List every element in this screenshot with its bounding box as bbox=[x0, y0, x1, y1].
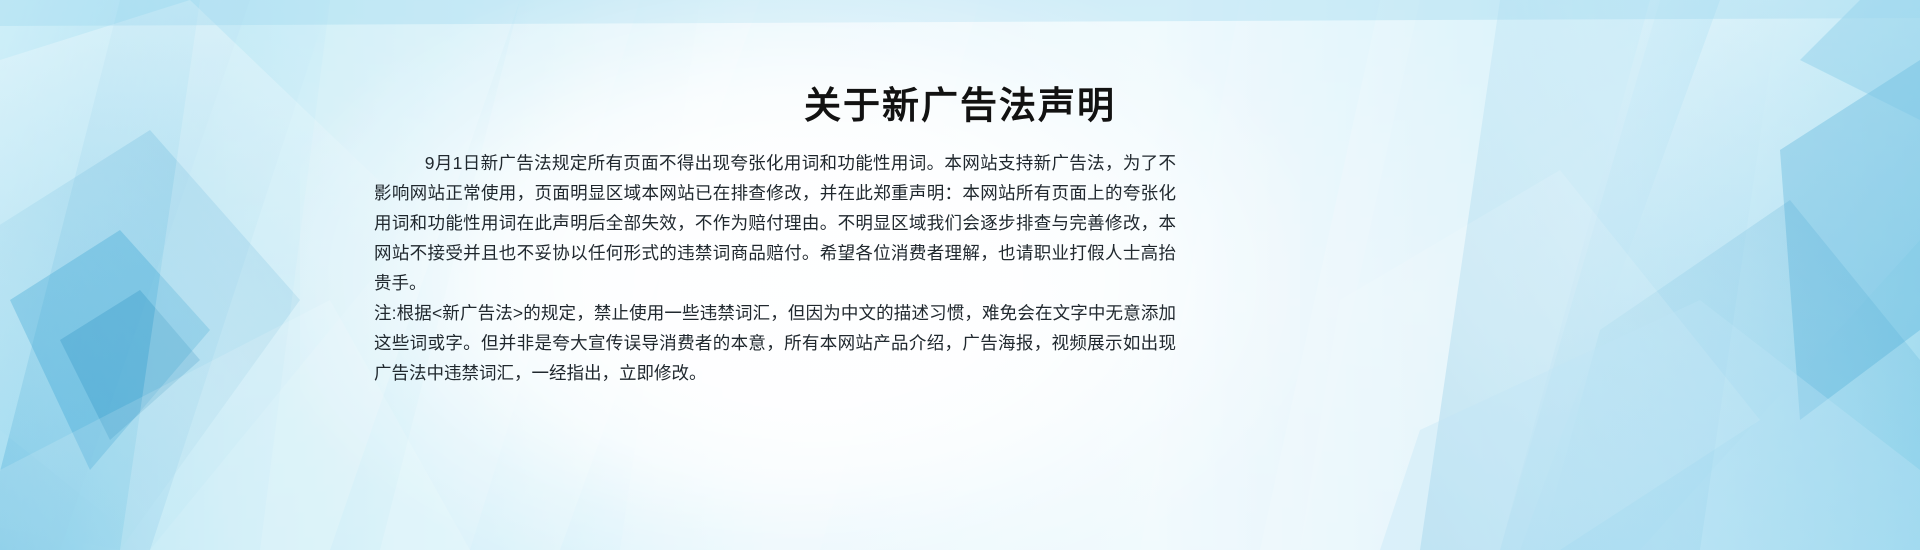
banner-content: 关于新广告法声明 9月1日新广告法规定所有页面不得出现夸张化用词和功能性用词。本… bbox=[0, 0, 1920, 550]
statement-body: 9月1日新广告法规定所有页面不得出现夸张化用词和功能性用词。本网站支持新广告法，… bbox=[374, 148, 1176, 388]
page-title: 关于新广告法声明 bbox=[0, 84, 1920, 128]
banner-container: 关于新广告法声明 9月1日新广告法规定所有页面不得出现夸张化用词和功能性用词。本… bbox=[0, 0, 1920, 550]
statement-paragraph-2: 注:根据<新广告法>的规定，禁止使用一些违禁词汇，但因为中文的描述习惯，难免会在… bbox=[374, 298, 1176, 388]
statement-paragraph-1: 9月1日新广告法规定所有页面不得出现夸张化用词和功能性用词。本网站支持新广告法，… bbox=[374, 148, 1176, 298]
